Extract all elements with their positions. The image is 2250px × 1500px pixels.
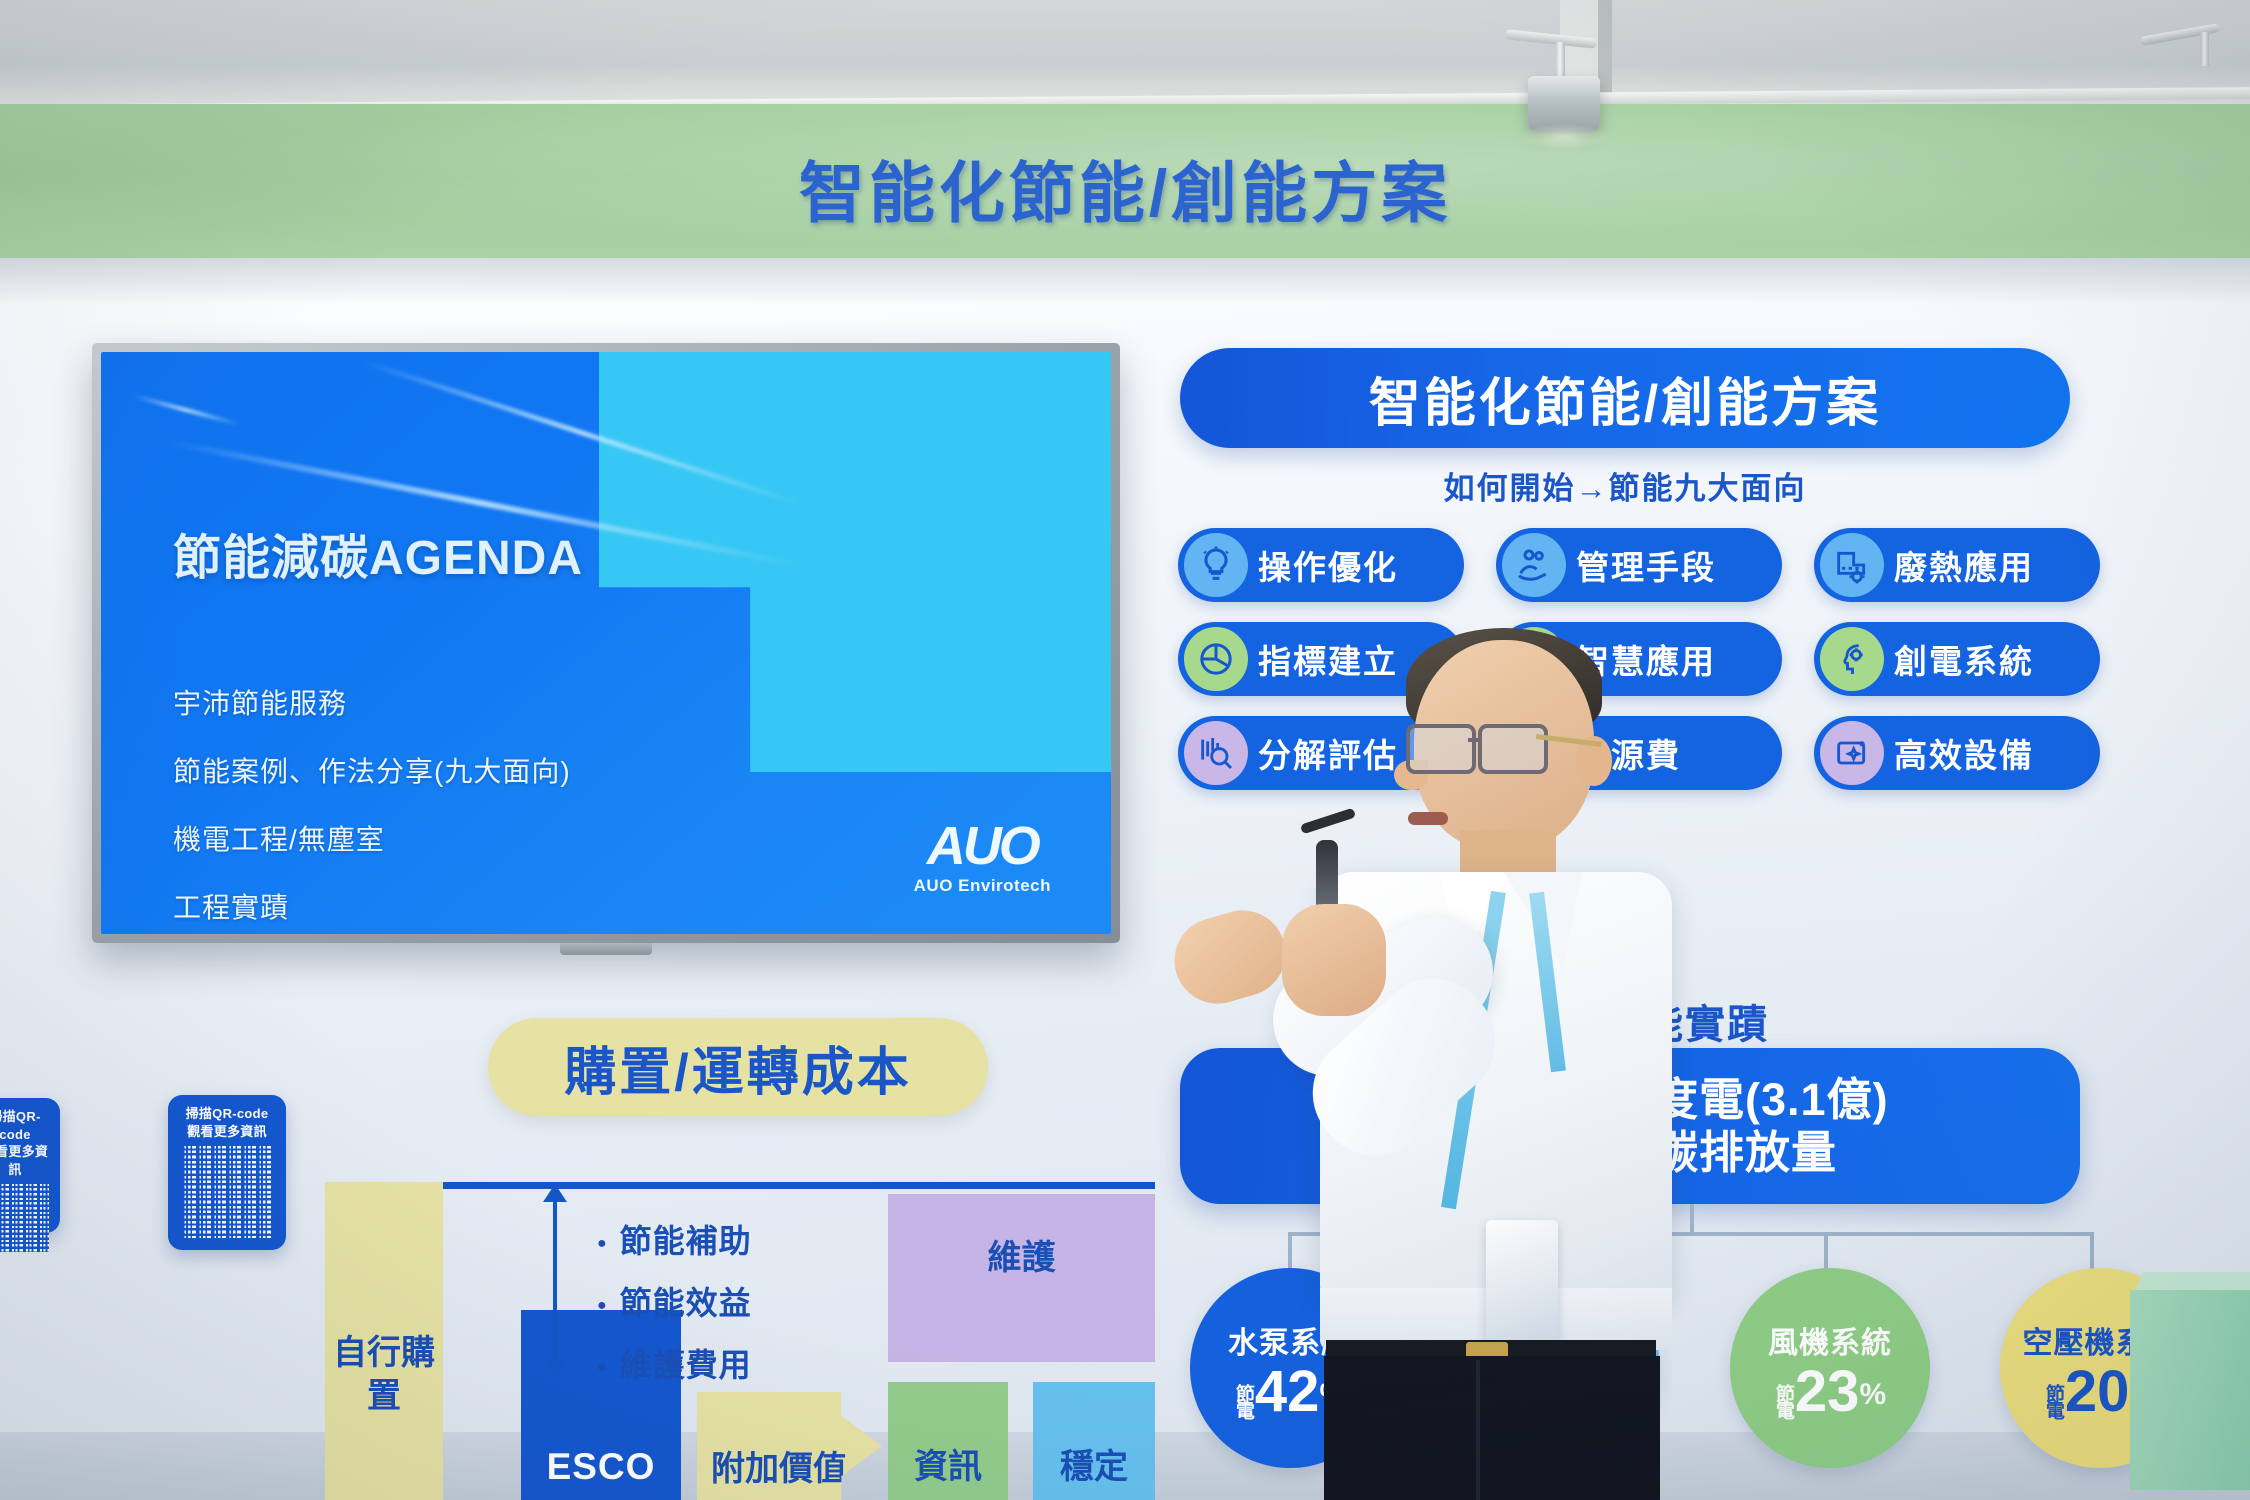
glasses-lens-left bbox=[1406, 724, 1476, 774]
presentation-display: 節能減碳AGENDA 宇沛節能服務 節能案例、作法分享(九大面向) 機電工程/無… bbox=[92, 343, 1120, 943]
exhibition-booth-photo: 智能化節能/創能方案 節能減碳AGENDA 宇沛節能服務 節能案例、作法分享(九… bbox=[0, 0, 2250, 1500]
aspect-pill-2[interactable]: 管理手段 bbox=[1496, 528, 1782, 602]
qr-card-line-2: 觀看更多資訊 bbox=[177, 1123, 277, 1141]
slide-streak bbox=[132, 394, 239, 426]
trouser-seam bbox=[1476, 1360, 1480, 1500]
spotlight-pole-right bbox=[2200, 32, 2209, 66]
slide-agenda-list: 宇沛節能服務 節能案例、作法分享(九大面向) 機電工程/無塵室 工程實蹟 bbox=[173, 682, 571, 934]
aspect-pill-6[interactable]: 創電系統 bbox=[1814, 622, 2100, 696]
slide-screen: 節能減碳AGENDA 宇沛節能服務 節能案例、作法分享(九大面向) 機電工程/無… bbox=[101, 352, 1111, 934]
display-stand bbox=[560, 943, 652, 955]
aspect-pill-1[interactable]: 操作優化 bbox=[1178, 528, 1464, 602]
id-badge bbox=[1486, 1220, 1558, 1342]
bar-label-self-purchase: 自行購置 bbox=[325, 1332, 443, 1417]
wall-top-shadow bbox=[0, 258, 2250, 304]
aspect-label: 創電系統 bbox=[1894, 635, 2034, 683]
presenter-hand-holding bbox=[1282, 904, 1386, 1016]
metric-prefix: 節電 bbox=[2044, 1384, 2062, 1418]
aspect-label: 廢熱應用 bbox=[1894, 541, 2034, 589]
qr-card-line-2: 觀看更多資訊 bbox=[0, 1143, 51, 1178]
auo-subbrand: AUO Envirotech bbox=[914, 876, 1051, 896]
slide-title: 節能減碳AGENDA bbox=[173, 518, 583, 588]
list-item: 宇沛節能服務 bbox=[173, 682, 571, 722]
panel-header-pill: 智能化節能/創能方案 bbox=[1180, 348, 2070, 448]
list-item: 機電工程/無塵室 bbox=[173, 818, 571, 858]
bar-label-esco: ESCO bbox=[521, 1446, 681, 1488]
presenter-trousers bbox=[1324, 1356, 1660, 1500]
factory-gear-icon bbox=[1820, 533, 1884, 597]
glasses-bridge bbox=[1468, 738, 1480, 742]
presenter bbox=[1290, 640, 1850, 1500]
aspect-pill-3[interactable]: 廢熱應用 bbox=[1814, 528, 2100, 602]
magnifier-data-icon bbox=[1184, 721, 1248, 785]
metric-unit: % bbox=[1859, 1378, 1886, 1412]
cost-bar-chart: 自行購置 ESCO 節能補助 節能效益 維護費用 維護 資訊 穩定 附加價值 bbox=[325, 1182, 1155, 1500]
delta-arrow-shaft bbox=[553, 1192, 557, 1370]
aspect-label: 管理手段 bbox=[1576, 541, 1716, 589]
eyeglasses-icon bbox=[1406, 724, 1556, 768]
presenter-mouth bbox=[1408, 812, 1448, 825]
chart-top-rule bbox=[325, 1182, 1155, 1189]
list-item: 節能案例、作法分享(九大面向) bbox=[173, 750, 571, 790]
qr-code-icon bbox=[0, 1184, 49, 1252]
metric-value: 20 bbox=[2065, 1366, 2130, 1418]
metric-prefix: 節電 bbox=[1234, 1384, 1252, 1418]
list-item: 工程實蹟 bbox=[173, 886, 571, 926]
added-value-label: 附加價值 bbox=[711, 1441, 847, 1490]
aspect-label: 操作優化 bbox=[1258, 541, 1398, 589]
display-plinth bbox=[2130, 1290, 2250, 1490]
auo-wordmark: AUO bbox=[914, 821, 1051, 872]
qr-code-icon bbox=[181, 1146, 273, 1238]
list-item: 節能效益 bbox=[597, 1278, 752, 1324]
added-value-arrow-tag: 附加價值 bbox=[697, 1392, 882, 1500]
qr-card-left[interactable]: 掃描QR-code 觀看更多資訊 bbox=[0, 1098, 60, 1233]
list-item: 維護費用 bbox=[597, 1340, 752, 1386]
slide-cyan-shape bbox=[599, 352, 1111, 772]
people-hand-icon bbox=[1502, 533, 1566, 597]
qr-card-line-1: 掃描QR-code bbox=[177, 1105, 277, 1123]
bar-label-maintenance: 維護 bbox=[888, 1230, 1155, 1279]
pie-chart-icon bbox=[1184, 627, 1248, 691]
lightbulb-icon bbox=[1184, 533, 1248, 597]
panel-subtitle: 如何開始→節能九大面向 bbox=[1180, 463, 2070, 508]
panel-header-label: 智能化節能/創能方案 bbox=[1369, 361, 1881, 436]
bar-label-stability: 穩定 bbox=[1033, 1439, 1155, 1488]
cost-chart-title: 購置/運轉成本 bbox=[564, 1030, 911, 1105]
bar-label-information: 資訊 bbox=[888, 1439, 1008, 1488]
qr-card-line-1: 掃描QR-code bbox=[0, 1108, 51, 1143]
qr-card-right[interactable]: 掃描QR-code 觀看更多資訊 bbox=[168, 1095, 286, 1250]
glasses-lens-right bbox=[1478, 724, 1548, 774]
aspect-label: 高效設備 bbox=[1894, 729, 2034, 777]
auo-logo: AUO AUO Envirotech bbox=[914, 821, 1051, 896]
connector-drop bbox=[2090, 1232, 2094, 1272]
list-item: 節能補助 bbox=[597, 1216, 752, 1262]
cost-chart-title-pill: 購置/運轉成本 bbox=[488, 1018, 988, 1116]
savings-bullet-list: 節能補助 節能效益 維護費用 bbox=[597, 1216, 752, 1402]
aspect-pill-9[interactable]: 高效設備 bbox=[1814, 716, 2100, 790]
microphone-clip bbox=[1300, 808, 1356, 835]
booth-banner-title: 智能化節能/創能方案 bbox=[0, 140, 2250, 236]
delta-arrow-down-icon bbox=[543, 1360, 567, 1378]
